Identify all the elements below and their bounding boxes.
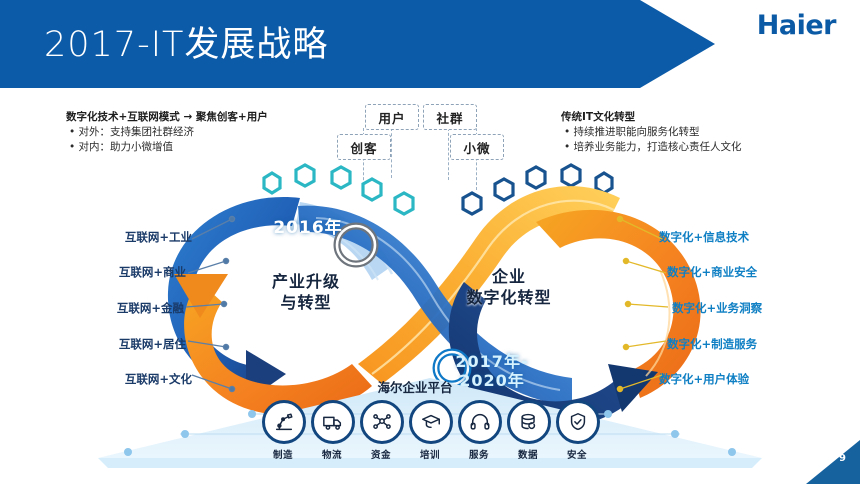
left-tick-group: [186, 215, 250, 395]
note-right-heading: 传统IT文化转型: [561, 110, 851, 125]
right-loop-title: 企业 数字化转型: [446, 266, 572, 308]
left-label-2[interactable]: 互联网+商业: [76, 264, 186, 280]
platform-item-manufacturing[interactable]: 制造: [262, 400, 304, 462]
shield-icon: [556, 400, 600, 444]
robot-arm-icon: [262, 400, 306, 444]
left-label-1[interactable]: 互联网+工业: [82, 229, 192, 245]
platform-item-training[interactable]: 培训: [409, 400, 451, 462]
left-label-3[interactable]: 互联网+金融: [74, 300, 184, 316]
right-label-2[interactable]: 数字化+商业安全: [667, 264, 757, 280]
platform-label: 海尔企业平台: [355, 377, 475, 396]
icon-caption-service: 服务: [458, 447, 500, 461]
truck-icon: [311, 400, 355, 444]
note-right-bullet-1: • 持续推进职能向服务化转型: [561, 125, 851, 140]
left-loop-year: 2016年: [258, 213, 358, 238]
slide-canvas: 2017-IT发展战略 Haier 数字化技术+互联网模式 → 聚焦创客+用户 …: [0, 0, 860, 484]
database-icon: [507, 400, 551, 444]
right-loop-year-line1: 2017年-: [437, 352, 547, 371]
haier-logo: Haier: [757, 10, 836, 41]
icon-caption-manufacturing: 制造: [262, 447, 304, 461]
right-loop-title-line2: 数字化转型: [446, 287, 572, 308]
icon-caption-funds: 资金: [360, 447, 402, 461]
page-title: 2017-IT发展战略: [44, 16, 328, 67]
note-left-heading: 数字化技术+互联网模式 → 聚焦创客+用户: [66, 110, 346, 125]
left-label-4[interactable]: 互联网+居住: [76, 336, 186, 352]
note-left-bullet-1: • 对外：支持集团社群经济: [66, 125, 346, 140]
platform-item-data[interactable]: 数据: [507, 400, 549, 462]
right-label-1[interactable]: 数字化+信息技术: [659, 229, 749, 245]
tag-box-shequn[interactable]: 社群: [423, 104, 477, 130]
icon-caption-logistics: 物流: [311, 447, 353, 461]
icon-caption-security: 安全: [556, 447, 598, 461]
icon-caption-training: 培训: [409, 447, 451, 461]
headset-icon: [458, 400, 502, 444]
page-number: 9: [839, 453, 846, 464]
left-loop-title: 产业升级 与转型: [248, 271, 364, 313]
platform-icon-row: 制造 物流 资金: [262, 400, 598, 462]
right-loop-title-line1: 企业: [446, 266, 572, 287]
tag-box-yonghu[interactable]: 用户: [365, 104, 419, 130]
icon-caption-data: 数据: [507, 447, 549, 461]
note-left: 数字化技术+互联网模式 → 聚焦创客+用户 • 对外：支持集团社群经济 • 对内…: [66, 110, 346, 155]
platform-item-security[interactable]: 安全: [556, 400, 598, 462]
right-tick-group: [608, 215, 668, 395]
graduation-cap-icon: [409, 400, 453, 444]
network-node-icon: [360, 400, 404, 444]
right-label-3[interactable]: 数字化+业务洞察: [672, 300, 762, 316]
platform-item-funds[interactable]: 资金: [360, 400, 402, 462]
platform-item-logistics[interactable]: 物流: [311, 400, 353, 462]
left-loop-title-line2: 与转型: [248, 292, 364, 313]
platform-item-service[interactable]: 服务: [458, 400, 500, 462]
left-loop-title-line1: 产业升级: [248, 271, 364, 292]
note-right: 传统IT文化转型 • 持续推进职能向服务化转型 • 培养业务能力，打造核心责任人…: [561, 110, 851, 155]
right-label-4[interactable]: 数字化+制造服务: [667, 336, 757, 352]
